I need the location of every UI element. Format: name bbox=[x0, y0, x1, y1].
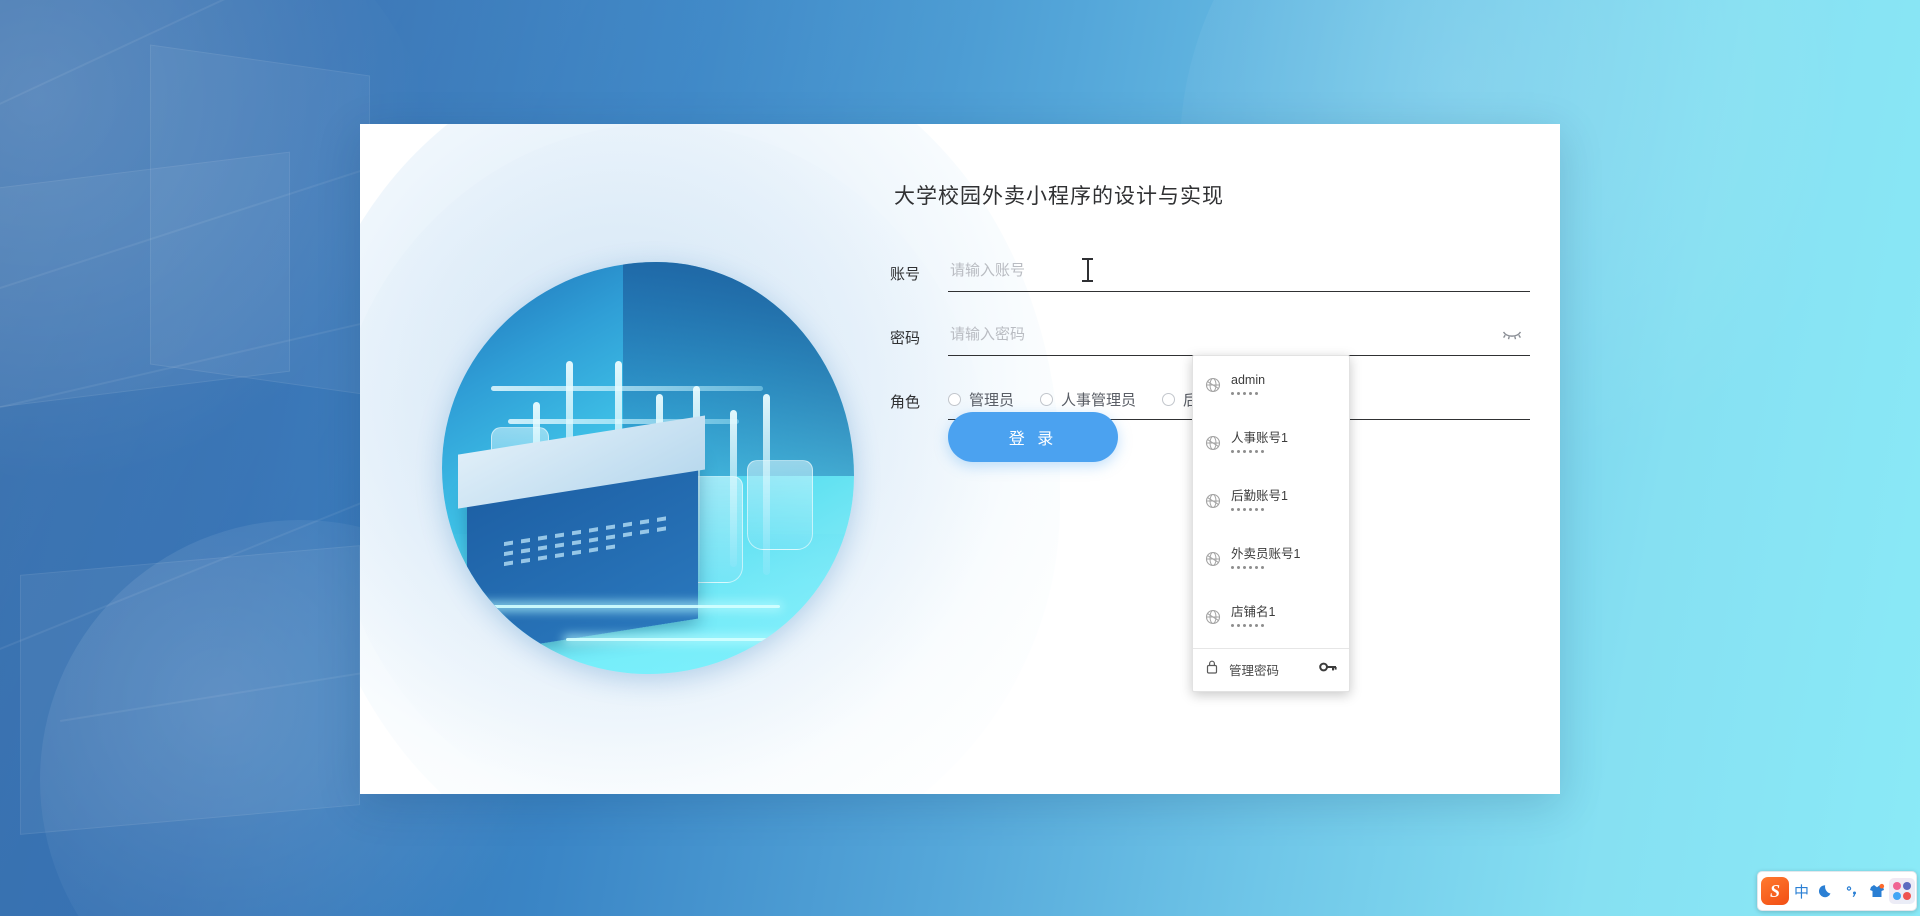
autofill-item[interactable]: admin bbox=[1193, 356, 1349, 414]
ime-toolbar[interactable]: S 中 bbox=[1757, 871, 1917, 911]
account-input[interactable] bbox=[948, 250, 1530, 291]
password-label: 密码 bbox=[890, 327, 934, 348]
shirt-icon[interactable] bbox=[1864, 876, 1889, 906]
globe-icon bbox=[1205, 551, 1221, 567]
autofill-password-dots bbox=[1231, 392, 1265, 395]
background-glass-pane bbox=[20, 545, 360, 835]
globe-icon bbox=[1205, 493, 1221, 509]
sogou-logo-icon[interactable]: S bbox=[1761, 877, 1789, 905]
account-label: 账号 bbox=[890, 263, 934, 284]
key-icon bbox=[1319, 660, 1337, 679]
autofill-dropdown[interactable]: admin 人事账号1 bbox=[1192, 355, 1350, 692]
radio-circle-icon bbox=[1040, 393, 1053, 406]
background-glass-pane bbox=[150, 45, 370, 396]
autofill-password-dots bbox=[1231, 566, 1300, 569]
role-option-label: 管理员 bbox=[969, 389, 1014, 410]
radio-circle-icon bbox=[948, 393, 961, 406]
autofill-password-dots bbox=[1231, 508, 1288, 511]
role-option-hr[interactable]: 人事管理员 bbox=[1040, 389, 1136, 410]
autofill-username: admin bbox=[1231, 374, 1265, 388]
autofill-password-dots bbox=[1231, 624, 1275, 627]
moon-icon[interactable] bbox=[1814, 876, 1839, 906]
eye-closed-icon[interactable] bbox=[1502, 326, 1522, 342]
desktop-background: 大学校园外卖小程序的设计与实现 账号 密码 bbox=[0, 0, 1920, 916]
autofill-item[interactable]: 店铺名1 bbox=[1193, 588, 1349, 646]
role-label: 角色 bbox=[890, 391, 934, 412]
account-row: 账号 bbox=[890, 250, 1530, 300]
radio-circle-icon bbox=[1162, 393, 1175, 406]
autofill-item[interactable]: 人事账号1 bbox=[1193, 414, 1349, 472]
lock-icon bbox=[1205, 659, 1219, 680]
autofill-password-dots bbox=[1231, 450, 1288, 453]
toolbox-icon[interactable] bbox=[1889, 878, 1915, 904]
role-option-label: 人事管理员 bbox=[1061, 389, 1136, 410]
role-option-admin[interactable]: 管理员 bbox=[948, 389, 1014, 410]
autofill-username: 人事账号1 bbox=[1231, 432, 1288, 446]
login-button[interactable]: 登 录 bbox=[948, 412, 1118, 462]
ime-mode-button[interactable]: 中 bbox=[1789, 876, 1814, 906]
globe-icon bbox=[1205, 435, 1221, 451]
autofill-username: 店铺名1 bbox=[1231, 606, 1275, 620]
autofill-username: 外卖员账号1 bbox=[1231, 548, 1300, 562]
account-field-wrap bbox=[948, 250, 1530, 292]
globe-icon bbox=[1205, 377, 1221, 393]
autofill-item[interactable]: 外卖员账号1 bbox=[1193, 530, 1349, 588]
punctuation-icon[interactable] bbox=[1839, 876, 1864, 906]
autofill-manage-passwords[interactable]: 管理密码 bbox=[1193, 649, 1349, 691]
manage-passwords-label: 管理密码 bbox=[1229, 660, 1309, 679]
autofill-item[interactable]: 后勤账号1 bbox=[1193, 472, 1349, 530]
login-card: 大学校园外卖小程序的设计与实现 账号 密码 bbox=[360, 124, 1560, 794]
autofill-username: 后勤账号1 bbox=[1231, 490, 1288, 504]
password-input[interactable] bbox=[948, 314, 1530, 355]
login-illustration bbox=[442, 262, 854, 674]
page-title: 大学校园外卖小程序的设计与实现 bbox=[894, 180, 1530, 210]
password-field-wrap bbox=[948, 314, 1530, 356]
globe-icon bbox=[1205, 609, 1221, 625]
